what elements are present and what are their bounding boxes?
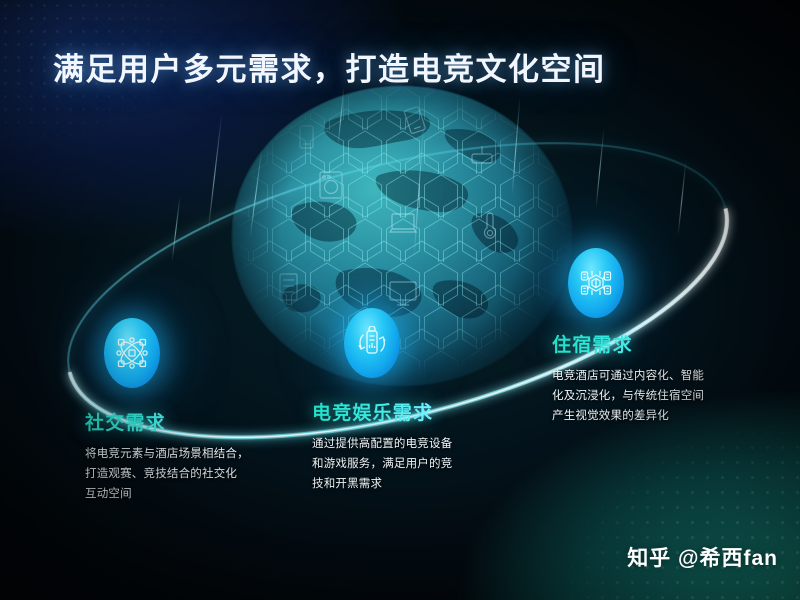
iot-hexagon-globe <box>232 86 572 386</box>
smart-chip-icon <box>579 266 613 300</box>
card-esports-entertainment: 电竞娱乐需求 通过提供高配置的电竞设备 和游戏服务，满足用户的竞 技和开黑需求 <box>312 398 507 494</box>
card-social-body: 将电竞元素与酒店场景相结合， 打造观赛、竞技结合的社交化 互动空间 <box>85 444 300 504</box>
card-esports-body: 通过提供高配置的电竞设备 和游戏服务，满足用户的竞 技和开黑需求 <box>312 434 507 494</box>
watermark: 知乎 @希西fan <box>627 542 778 572</box>
card-social-heading: 社交需求 <box>85 408 300 435</box>
globe-edge-fade <box>232 86 572 386</box>
device-cycle-icon <box>356 326 388 360</box>
node-accommodation[interactable] <box>568 248 624 318</box>
slide-canvas: 社交需求 将电竞元素与酒店场景相结合， 打造观赛、竞技结合的社交化 互动空间 电… <box>0 0 800 600</box>
card-accommodation-body: 电竞酒店可通过内容化、智能 化及沉浸化，与传统住宿空间 产生视觉效果的差异化 <box>552 366 762 426</box>
card-accommodation-heading: 住宿需求 <box>552 330 762 357</box>
node-social[interactable] <box>104 318 160 388</box>
page-title: 满足用户多元需求，打造电竞文化空间 <box>53 44 606 89</box>
card-esports-heading: 电竞娱乐需求 <box>312 398 507 425</box>
node-esports-entertainment[interactable] <box>344 308 400 378</box>
card-social: 社交需求 将电竞元素与酒店场景相结合， 打造观赛、竞技结合的社交化 互动空间 <box>85 408 300 504</box>
network-nodes-icon <box>115 336 149 370</box>
card-accommodation: 住宿需求 电竞酒店可通过内容化、智能 化及沉浸化，与传统住宿空间 产生视觉效果的… <box>552 330 762 426</box>
